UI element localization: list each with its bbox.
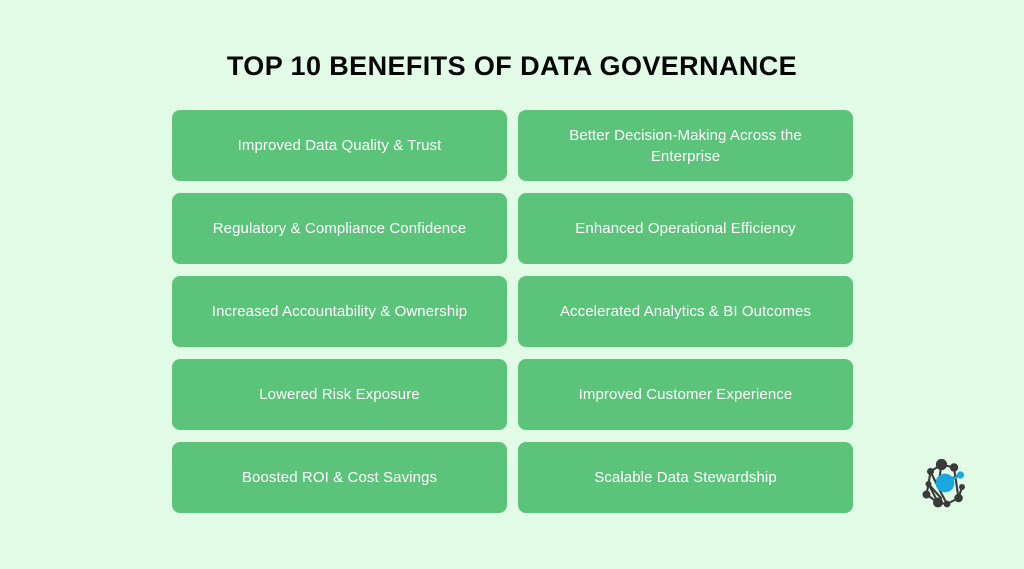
benefit-card-6[interactable]: Accelerated Analytics & BI Outcomes	[518, 276, 853, 347]
benefit-label: Regulatory & Compliance Confidence	[213, 218, 467, 239]
benefit-card-2[interactable]: Better Decision-Making Across the Enterp…	[518, 110, 853, 181]
benefit-label: Improved Data Quality & Trust	[238, 135, 442, 156]
benefit-card-10[interactable]: Scalable Data Stewardship	[518, 442, 853, 513]
benefit-card-4[interactable]: Enhanced Operational Efficiency	[518, 193, 853, 264]
benefit-label: Improved Customer Experience	[579, 384, 793, 405]
benefit-card-8[interactable]: Improved Customer Experience	[518, 359, 853, 430]
benefit-label: Accelerated Analytics & BI Outcomes	[560, 301, 811, 322]
benefit-label: Enhanced Operational Efficiency	[575, 218, 795, 239]
benefits-grid: Improved Data Quality & Trust Better Dec…	[172, 110, 853, 513]
benefit-card-5[interactable]: Increased Accountability & Ownership	[172, 276, 507, 347]
benefit-label: Better Decision-Making Across the Enterp…	[534, 125, 837, 167]
benefit-card-9[interactable]: Boosted ROI & Cost Savings	[172, 442, 507, 513]
benefit-card-1[interactable]: Improved Data Quality & Trust	[172, 110, 507, 181]
benefit-card-7[interactable]: Lowered Risk Exposure	[172, 359, 507, 430]
benefit-label: Boosted ROI & Cost Savings	[242, 467, 437, 488]
network-graph-logo-icon	[916, 454, 974, 512]
benefit-label: Scalable Data Stewardship	[594, 467, 777, 488]
slide-canvas: TOP 10 BENEFITS OF DATA GOVERNANCE Impro…	[0, 0, 1024, 569]
page-title: TOP 10 BENEFITS OF DATA GOVERNANCE	[0, 49, 1024, 83]
benefit-label: Lowered Risk Exposure	[259, 384, 420, 405]
benefit-card-3[interactable]: Regulatory & Compliance Confidence	[172, 193, 507, 264]
benefit-label: Increased Accountability & Ownership	[212, 301, 467, 322]
